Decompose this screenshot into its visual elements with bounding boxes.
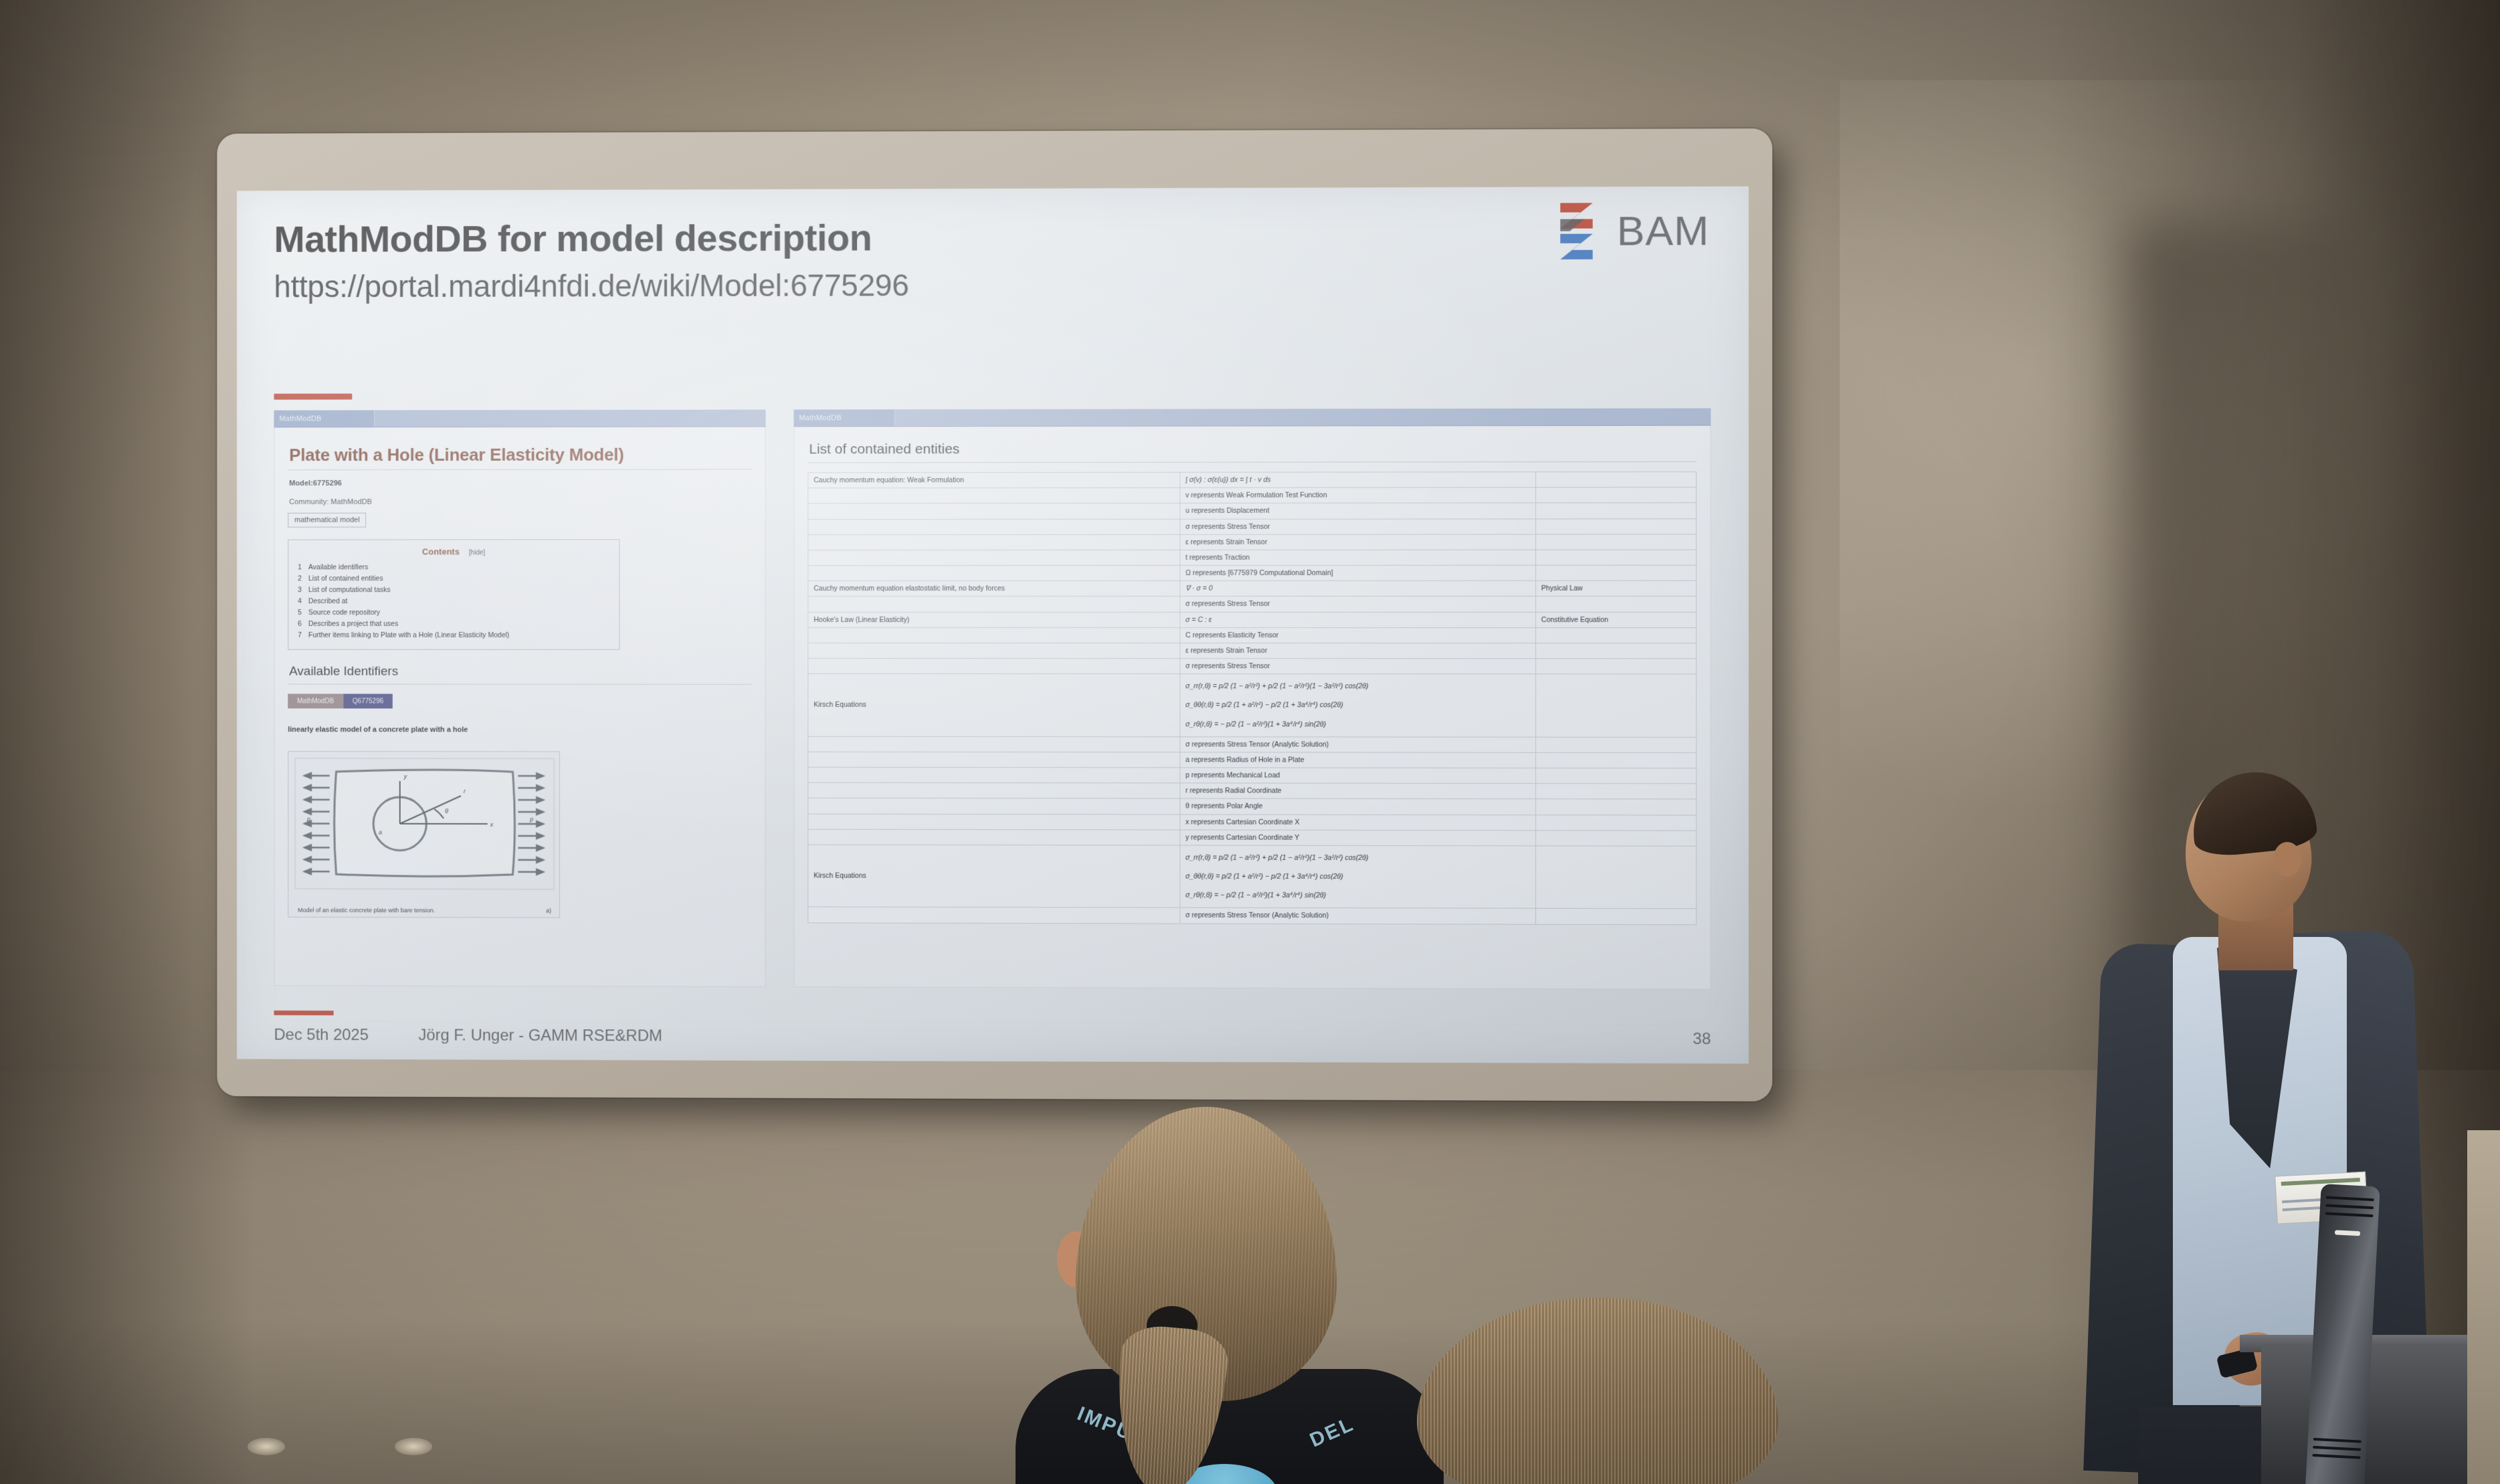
browser-tabbar-left: MathModDB [274, 409, 765, 427]
browser-tab[interactable]: MathModDB [793, 409, 895, 426]
toc-item[interactable]: 3List of computational tasks [298, 585, 609, 596]
grill-slot [2312, 1454, 2360, 1459]
divider [288, 683, 751, 684]
entity-type-cell [1535, 846, 1696, 909]
toc-heading: Contents[hide] [298, 546, 609, 556]
entity-type-cell [1535, 488, 1696, 503]
table-row: y represents Cartesian Coordinate Y [808, 829, 1697, 846]
figure-number: a) [546, 908, 551, 914]
grill-slot [2313, 1446, 2361, 1451]
toc-item[interactable]: 7Further items linking to Plate with a H… [298, 630, 609, 641]
browser-tab[interactable]: MathModDB [274, 410, 375, 427]
title-accent-rule [274, 393, 352, 399]
entity-name-cell: Hooke's Law (Linear Elasticity) [808, 612, 1180, 627]
entity-formula-cell: ∇ · σ = 0 [1180, 581, 1536, 597]
toc-list: 1Available identifiers2List of contained… [298, 562, 609, 641]
toc-item-label: Available identifiers [308, 562, 368, 573]
entity-name-cell [808, 565, 1180, 580]
toc-item-label: Further items linking to Plate with a Ho… [308, 630, 509, 641]
identifier-badge[interactable]: MathModDB Q6775296 [288, 694, 393, 708]
shirt-text: IMPULSE DEL [1074, 1421, 1355, 1484]
screenshot-panels: MathModDB Plate with a Hole (Linear Elas… [274, 408, 1711, 989]
entity-formula-cell: σ represents Stress Tensor [1180, 659, 1536, 674]
entity-formula-cell: y represents Cartesian Coordinate Y [1180, 830, 1536, 846]
toc-item[interactable]: 2List of contained entities [298, 573, 609, 585]
wiki-page-left: Plate with a Hole (Linear Elasticity Mod… [274, 427, 765, 987]
grill-slot [2325, 1204, 2374, 1209]
entity-type-cell [1535, 659, 1696, 674]
indicator-light [2335, 1230, 2360, 1236]
bam-logo: BAM [1557, 199, 1709, 263]
projection-screen-surface: BAM MathModDB for model description http… [237, 187, 1749, 1064]
entity-name-cell [808, 643, 1180, 658]
figure-caption: Model of an elastic concrete plate with … [298, 907, 435, 914]
presentation-slide: BAM MathModDB for model description http… [237, 187, 1749, 1064]
table-row: C represents Elasticity Tensor [808, 627, 1697, 643]
entity-name-cell [808, 814, 1180, 830]
wiki-article-title: Plate with a Hole (Linear Elasticity Mod… [289, 444, 751, 465]
entity-name-cell [808, 736, 1180, 752]
audience-person-1: IMPULSE DEL [1016, 1107, 1484, 1484]
entity-formula-cell: p represents Mechanical Load [1180, 768, 1536, 784]
table-row: σ represents Stress Tensor (Analytic Sol… [808, 907, 1697, 924]
entity-name-cell [808, 767, 1180, 783]
svg-text:θ: θ [445, 808, 448, 815]
entity-name-cell [808, 907, 1180, 923]
entity-type-cell [1535, 627, 1696, 643]
table-row: σ represents Stress Tensor [808, 518, 1697, 534]
wiki-page-right: List of contained entities Cauchy moment… [793, 426, 1711, 990]
entity-name-cell [808, 550, 1180, 565]
toc-item-number: 3 [298, 585, 308, 596]
ear [2273, 842, 2301, 877]
toc-item[interactable]: 1Available identifiers [298, 562, 609, 573]
table-row: v represents Weak Formulation Test Funct… [808, 488, 1697, 504]
grill-slot [2325, 1212, 2373, 1217]
toc-item-number: 6 [298, 619, 308, 630]
table-row: σ represents Stress Tensor (Analytic Sol… [808, 736, 1697, 752]
entity-name-cell [808, 799, 1180, 815]
entity-type-cell: Constitutive Equation [1535, 612, 1696, 627]
entity-type-cell [1535, 518, 1696, 534]
entity-type-cell [1535, 471, 1696, 488]
entity-name-cell: Kirsch Equations [808, 845, 1180, 908]
kirsch-equation: σ_rr(r,θ) = p/2 (1 − a²/r²) + p/2 (1 − a… [1185, 677, 1530, 696]
kirsch-equation: σ_θθ(r,θ) = p/2 (1 + a²/r²) − p/2 (1 + 3… [1185, 867, 1530, 887]
kirsch-equation: σ_rθ(r,θ) = − p/2 (1 − a²/r²)(1 + 3a⁴/r⁴… [1185, 886, 1530, 906]
wiki-screenshot-left: MathModDB Plate with a Hole (Linear Elas… [274, 409, 765, 987]
table-row: θ represents Polar Angle [808, 799, 1697, 815]
bam-wordmark: BAM [1617, 207, 1710, 255]
table-row: Kirsch Equationsσ_rr(r,θ) = p/2 (1 − a²/… [808, 674, 1697, 738]
toc-hide-link[interactable]: [hide] [469, 549, 485, 556]
entity-name-cell [808, 658, 1180, 673]
entity-formula-cell: r represents Radial Coordinate [1180, 783, 1536, 799]
entity-type-cell [1535, 752, 1696, 768]
footer-author: Jörg F. Unger - GAMM RSE&RDM [419, 1027, 1630, 1049]
hair [1417, 1297, 1778, 1484]
entity-formula-cell: σ represents Stress Tensor (Analytic Sol… [1180, 736, 1536, 752]
identifier-badge-value: Q6775296 [343, 694, 393, 708]
toc-item-label: List of computational tasks [308, 585, 391, 596]
table-row: Ω represents [6775979 Computational Doma… [808, 565, 1697, 581]
toc-item[interactable]: 5Source code repository [298, 607, 609, 619]
entity-type-cell [1535, 534, 1696, 550]
entity-formula-cell: σ_rr(r,θ) = p/2 (1 − a²/r²) + p/2 (1 − a… [1180, 845, 1536, 909]
community-label: Community: MathModDB [289, 498, 751, 506]
toc-item[interactable]: 6Describes a project that uses [298, 619, 609, 630]
entity-formula-cell: ε represents Strain Tensor [1180, 643, 1536, 658]
entity-type-cell [1535, 815, 1696, 831]
entity-name-cell: Cauchy momentum equation elastostatic li… [808, 581, 1180, 597]
entity-formula-cell: u represents Displacement [1180, 503, 1536, 519]
table-row: σ represents Stress Tensor [808, 597, 1697, 612]
slide-url: https://portal.mardi4nfdi.de/wiki/Model:… [274, 265, 1711, 304]
kirsch-equation: σ_rθ(r,θ) = − p/2 (1 − a²/r²)(1 + 3a⁴/r⁴… [1185, 715, 1530, 734]
toc-item-label: Described at [308, 596, 347, 607]
table-row: Cauchy momentum equation elastostatic li… [808, 580, 1697, 596]
divider [288, 469, 751, 470]
entity-type-cell [1535, 550, 1696, 565]
entity-type-cell [1535, 674, 1696, 737]
table-row: u represents Displacement [808, 503, 1697, 519]
table-row: a represents Radius of Hole in a Plate [808, 752, 1697, 768]
table-body: Cauchy momentum equation: Weak Formulati… [808, 471, 1697, 924]
toc-title: Contents [422, 546, 460, 556]
entity-type-cell [1535, 597, 1696, 612]
entity-formula-cell: v represents Weak Formulation Test Funct… [1180, 488, 1536, 504]
table-row: ε represents Strain Tensor [808, 643, 1697, 659]
divider [807, 461, 1697, 463]
side-wall-panel [2467, 1130, 2500, 1484]
entity-name-cell [808, 534, 1180, 550]
entity-formula-cell: σ represents Stress Tensor [1180, 518, 1536, 534]
slide-page-number: 38 [1630, 1030, 1711, 1049]
entity-name-cell: Cauchy momentum equation: Weak Formulati… [808, 472, 1180, 488]
entity-name-cell [808, 597, 1180, 612]
entity-formula-cell: a represents Radius of Hole in a Plate [1180, 752, 1536, 768]
table-row: p represents Mechanical Load [808, 767, 1697, 784]
entity-type-cell [1535, 831, 1696, 847]
entity-name-cell [808, 752, 1180, 768]
available-identifiers-heading: Available Identifiers [289, 665, 751, 679]
tabbar-empty-space [895, 408, 1711, 426]
entity-formula-cell: ∫ σ(v) : σ(ε(u)) dx = ∫ t · v ds [1180, 472, 1536, 488]
model-description: linearly elastic model of a concrete pla… [288, 726, 751, 734]
kirsch-equation: σ_θθ(r,θ) = p/2 (1 + a²/r²) − p/2 (1 + 3… [1185, 696, 1530, 716]
model-id: Model:6775296 [289, 479, 751, 488]
tabbar-empty-space [375, 409, 765, 427]
entity-name-cell [808, 519, 1180, 535]
entity-type-cell [1535, 784, 1696, 800]
grill-slot [2326, 1196, 2374, 1201]
toc-item-number: 1 [298, 562, 308, 573]
toc-item-label: Describes a project that uses [308, 619, 398, 630]
toc-item-number: 7 [298, 630, 308, 641]
entity-formula-cell: σ represents Stress Tensor (Analytic Sol… [1180, 908, 1536, 924]
table-row: r represents Radial Coordinate [808, 782, 1697, 799]
svg-text:x: x [490, 821, 494, 828]
contained-entities-table: Cauchy momentum equation: Weak Formulati… [807, 471, 1697, 925]
tag-chip-mathematical-model[interactable]: mathematical model [288, 513, 366, 528]
entity-type-cell [1535, 565, 1696, 580]
entity-formula-cell: x represents Cartesian Coordinate X [1180, 815, 1536, 831]
entity-name-cell [808, 627, 1180, 643]
browser-tabbar-right: MathModDB [793, 408, 1711, 427]
entity-type-cell [1535, 909, 1696, 925]
entity-type-cell: Physical Law [1535, 580, 1696, 596]
toc-item-label: List of contained entities [308, 573, 383, 585]
entity-name-cell [808, 504, 1180, 520]
svg-text:y: y [403, 773, 407, 780]
kirsch-equation: σ_rr(r,θ) = p/2 (1 − a²/r²) + p/2 (1 − a… [1185, 848, 1530, 867]
table-row: t represents Traction [808, 550, 1697, 566]
entity-formula-cell: σ = C : ε [1180, 612, 1536, 627]
entity-formula-cell: C represents Elasticity Tensor [1180, 627, 1536, 643]
projection-screen-frame: BAM MathModDB for model description http… [217, 128, 1772, 1101]
footer-accent-rule [274, 1011, 333, 1015]
slide-title: MathModDB for model description [274, 216, 1711, 259]
bam-zigzag-icon [1557, 199, 1602, 263]
entity-type-cell [1535, 799, 1696, 815]
hair [2188, 766, 2319, 859]
toc-item-number: 2 [298, 573, 308, 585]
wiki-screenshot-right: MathModDB List of contained entities Cau… [793, 408, 1711, 989]
toc-item-label: Source code repository [308, 607, 380, 619]
slide-footer: Dec 5th 2025 Jörg F. Unger - GAMM RSE&RD… [274, 1026, 1711, 1049]
grill-slot [2313, 1438, 2362, 1443]
entity-name-cell [808, 488, 1180, 504]
contained-entities-heading: List of contained entities [809, 441, 1697, 458]
lectern [2261, 1344, 2500, 1484]
entity-formula-cell: t represents Traction [1180, 550, 1536, 565]
entity-type-cell [1535, 737, 1696, 752]
table-row: Hooke's Law (Linear Elasticity)σ = C : ε… [808, 612, 1697, 627]
entity-formula-cell: σ represents Stress Tensor [1180, 597, 1536, 612]
toc-item-number: 4 [298, 596, 308, 607]
toc-item[interactable]: 4Described at [298, 596, 609, 607]
entity-name-cell [808, 782, 1180, 799]
identifier-badge-key: MathModDB [288, 694, 343, 708]
plate-with-hole-diagram: y x r θ a p p [294, 757, 555, 891]
floor-light-reflection [395, 1438, 432, 1455]
table-row: Cauchy momentum equation: Weak Formulati… [808, 471, 1697, 488]
entity-type-cell [1535, 503, 1696, 518]
toc-item-number: 5 [298, 607, 308, 619]
footer-date: Dec 5th 2025 [274, 1026, 418, 1045]
floor-light-reflection [248, 1438, 285, 1455]
svg-text:a: a [379, 829, 382, 836]
entity-type-cell [1535, 768, 1696, 784]
entity-formula-cell: σ_rr(r,θ) = p/2 (1 − a²/r²) + p/2 (1 − a… [1180, 674, 1536, 737]
entity-name-cell [808, 829, 1180, 845]
table-row: ε represents Strain Tensor [808, 534, 1697, 550]
entity-formula-cell: Ω represents [6775979 Computational Doma… [1180, 565, 1536, 580]
plate-with-hole-figure: y x r θ a p p [288, 751, 560, 918]
table-row: x represents Cartesian Coordinate X [808, 814, 1697, 831]
svg-text:p: p [529, 816, 533, 823]
table-row: σ represents Stress Tensor [808, 658, 1697, 674]
entity-name-cell: Kirsch Equations [808, 674, 1180, 737]
table-row: Kirsch Equationsσ_rr(r,θ) = p/2 (1 − a²/… [808, 845, 1697, 909]
entity-type-cell [1535, 643, 1696, 659]
audience-person-2 [1417, 1297, 1778, 1484]
entity-formula-cell: ε represents Strain Tensor [1180, 534, 1536, 550]
table-of-contents: Contents[hide] 1Available identifiers2Li… [288, 539, 619, 650]
entity-formula-cell: θ represents Polar Angle [1180, 799, 1536, 815]
